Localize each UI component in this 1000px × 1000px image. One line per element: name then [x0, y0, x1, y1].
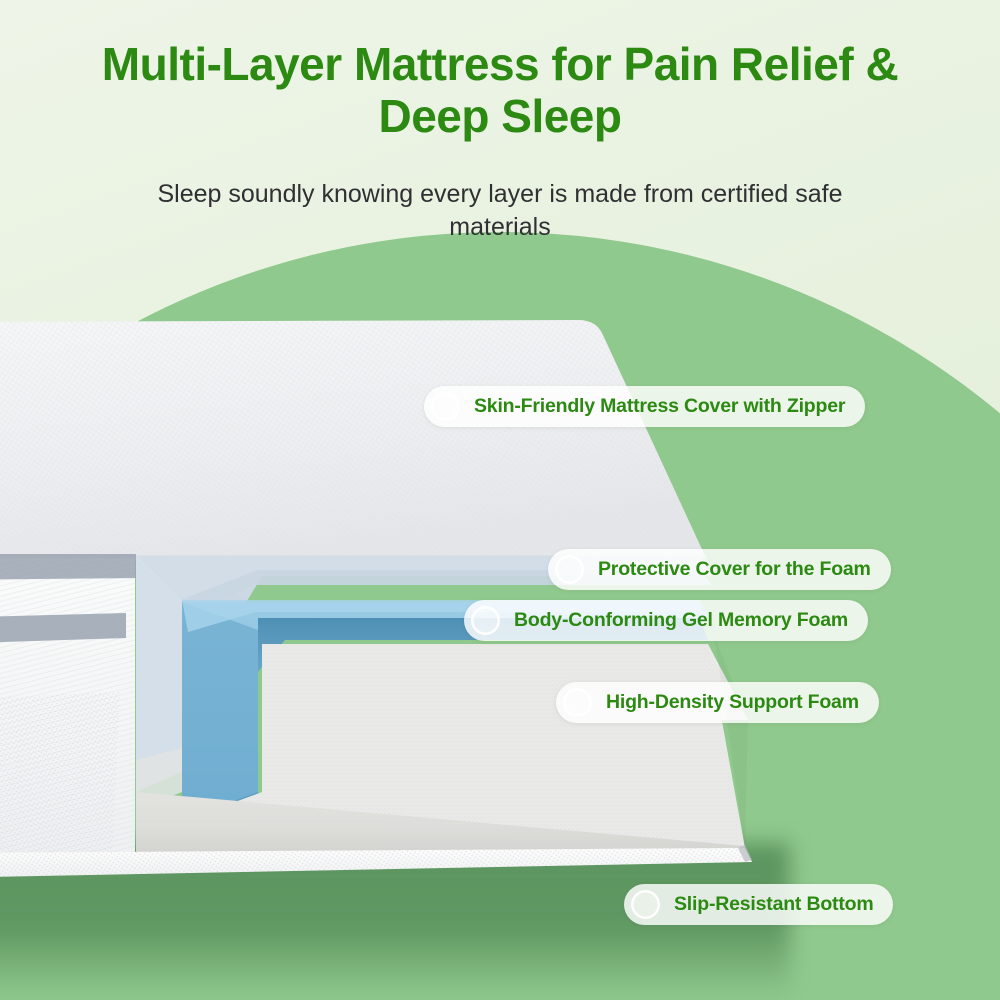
zipper-side-panel: [0, 554, 136, 880]
callout-label: Skin-Friendly Mattress Cover with Zipper: [464, 395, 845, 418]
callout-dot-icon: [555, 555, 584, 584]
callout-protective-cover[interactable]: Protective Cover for the Foam: [548, 549, 891, 590]
infographic-canvas: Multi-Layer Mattress for Pain Relief & D…: [0, 0, 1000, 1000]
callout-dot-icon: [631, 890, 660, 919]
callout-dot-icon: [431, 392, 460, 421]
callout-support-foam[interactable]: High-Density Support Foam: [556, 682, 879, 723]
callout-slip-resistant-bottom[interactable]: Slip-Resistant Bottom: [624, 884, 893, 925]
callout-label: Slip-Resistant Bottom: [664, 893, 873, 916]
callout-label: High-Density Support Foam: [596, 691, 859, 714]
callout-label: Protective Cover for the Foam: [588, 558, 871, 581]
callout-skin-friendly-cover[interactable]: Skin-Friendly Mattress Cover with Zipper: [424, 386, 865, 427]
callout-dot-icon: [471, 606, 500, 635]
callout-label: Body-Conforming Gel Memory Foam: [504, 609, 848, 632]
callout-gel-memory-foam[interactable]: Body-Conforming Gel Memory Foam: [464, 600, 868, 641]
page-title: Multi-Layer Mattress for Pain Relief & D…: [0, 38, 1000, 143]
page-subtitle: Sleep soundly knowing every layer is mad…: [0, 178, 1000, 243]
knit-cover-top-layer: [0, 320, 708, 562]
callout-dot-icon: [563, 688, 592, 717]
